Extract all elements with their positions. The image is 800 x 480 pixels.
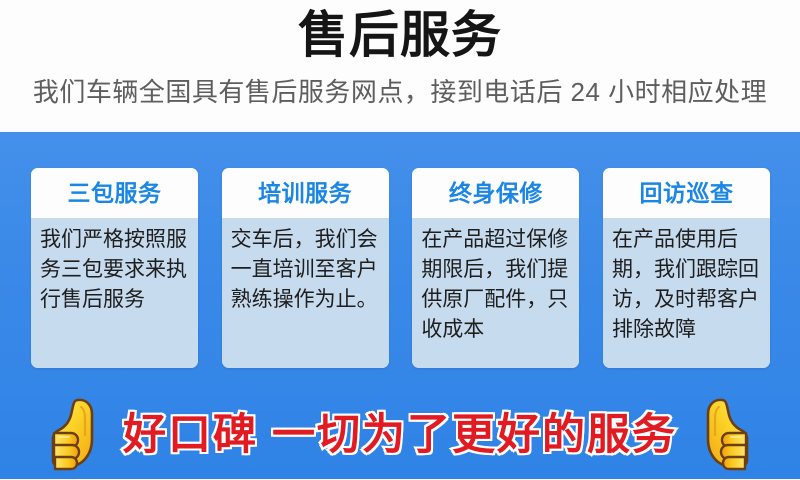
blue-content-panel: 三包服务 我们严格按照服务三包要求来执行售后服务 培训服务 交车后，我们会一直培…	[0, 132, 800, 479]
service-card-text: 在产品超过保修期限后，我们提供原厂配件，只收成本	[421, 228, 568, 341]
thumbs-up-icon	[45, 395, 109, 475]
service-card-text: 交车后，我们会一直培训至客户熟练操作为止。	[231, 228, 378, 311]
service-card-body: 在产品超过保修期限后，我们提供原厂配件，只收成本	[412, 218, 579, 368]
service-card-title: 回访巡查	[639, 180, 733, 206]
service-card-text: 在产品使用后期，我们跟踪回访，及时帮客户排除故障	[612, 228, 759, 341]
service-card[interactable]: 终身保修 在产品超过保修期限后，我们提供原厂配件，只收成本	[412, 168, 579, 368]
page-subtitle: 我们车辆全国具有售后服务网点，接到电话后 24 小时相应处理	[0, 66, 800, 108]
service-cards-row: 三包服务 我们严格按照服务三包要求来执行售后服务 培训服务 交车后，我们会一直培…	[31, 168, 770, 368]
slogan-text: 好口碑 一切为了更好的服务	[109, 409, 691, 461]
service-card-title: 三包服务	[68, 180, 162, 206]
service-card[interactable]: 培训服务 交车后，我们会一直培训至客户熟练操作为止。	[222, 168, 389, 368]
service-card-body: 交车后，我们会一直培训至客户熟练操作为止。	[222, 218, 389, 368]
service-card-title: 终身保修	[449, 180, 543, 206]
service-card-header: 三包服务	[31, 168, 198, 218]
service-card-body: 我们严格按照服务三包要求来执行售后服务	[31, 218, 198, 368]
header-section: 售后服务 我们车辆全国具有售后服务网点，接到电话后 24 小时相应处理	[0, 0, 800, 132]
service-card-title: 培训服务	[258, 180, 352, 206]
slogan-row: 好口碑 一切为了更好的服务	[0, 390, 800, 479]
service-card-header: 回访巡查	[603, 168, 770, 218]
service-card-body: 在产品使用后期，我们跟踪回访，及时帮客户排除故障	[603, 218, 770, 368]
service-card-header: 培训服务	[222, 168, 389, 218]
service-card-text: 我们严格按照服务三包要求来执行售后服务	[40, 228, 187, 311]
thumbs-up-icon	[691, 395, 755, 475]
promo-banner: 售后服务 我们车辆全国具有售后服务网点，接到电话后 24 小时相应处理 三包服务…	[0, 0, 800, 479]
page-title: 售后服务	[0, 0, 800, 66]
service-card[interactable]: 三包服务 我们严格按照服务三包要求来执行售后服务	[31, 168, 198, 368]
service-card[interactable]: 回访巡查 在产品使用后期，我们跟踪回访，及时帮客户排除故障	[603, 168, 770, 368]
service-card-header: 终身保修	[412, 168, 579, 218]
